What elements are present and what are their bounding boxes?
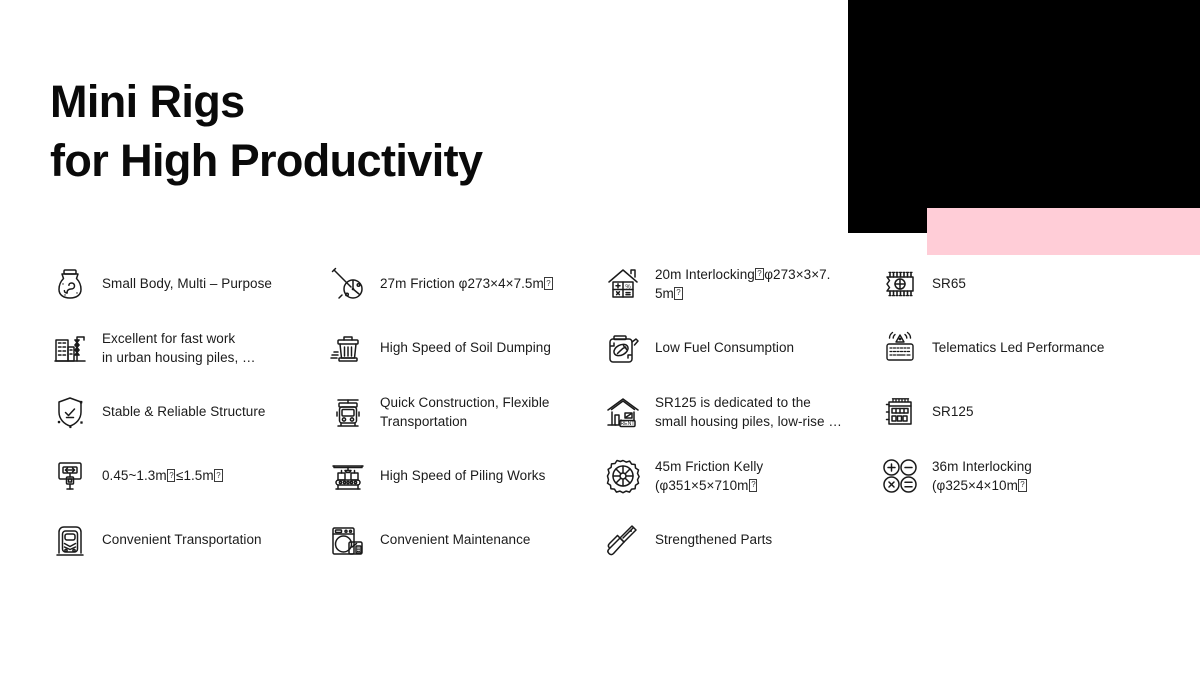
feature-item: 36m Interlocking (φ325×4×10m bbox=[880, 444, 1156, 508]
feature-grid: Small Body, Multi – Purpose 27m Friction… bbox=[50, 252, 1170, 572]
missing-glyph-box bbox=[1018, 479, 1026, 492]
decor-black-block bbox=[848, 0, 1200, 233]
feature-item: Excellent for fast work in urban housing… bbox=[50, 316, 328, 380]
missing-glyph-box bbox=[749, 479, 757, 492]
feature-item: 45m Friction Kelly (φ351×5×710m bbox=[603, 444, 880, 508]
feature-item: Quick Construction, Flexible Transportat… bbox=[328, 380, 603, 444]
feature-item: 0.45~1.3m≤1.5m bbox=[50, 444, 328, 508]
feature-label: High Speed of Soil Dumping bbox=[380, 338, 551, 357]
feature-label: Low Fuel Consumption bbox=[655, 338, 794, 357]
feature-label: Small Body, Multi – Purpose bbox=[102, 274, 272, 293]
feature-item: RENT SR125 is dedicated to the small hou… bbox=[603, 380, 880, 444]
missing-glyph-box bbox=[674, 287, 682, 300]
soil-dump-bin-icon bbox=[328, 328, 368, 368]
feature-item: Small Body, Multi – Purpose bbox=[50, 252, 328, 316]
pliers-tool-icon bbox=[603, 520, 643, 560]
feature-label: 36m Interlocking (φ325×4×10m bbox=[932, 457, 1032, 495]
page-title: Mini Rigs for High Productivity bbox=[50, 72, 482, 191]
house-rent-icon: RENT bbox=[603, 392, 643, 432]
missing-glyph-box bbox=[544, 277, 552, 290]
feature-item: % 20m Interlockingφ273×3×7. 5m bbox=[603, 252, 880, 316]
svg-text:%: % bbox=[625, 285, 631, 291]
feature-item: 27m Friction φ273×4×7.5m bbox=[328, 252, 603, 316]
feature-label: SR125 is dedicated to the small housing … bbox=[655, 393, 842, 431]
feature-item: Convenient Maintenance bbox=[328, 508, 603, 572]
feature-item: Convenient Transportation bbox=[50, 508, 328, 572]
feature-item: Low Fuel Consumption bbox=[603, 316, 880, 380]
shield-check-icon bbox=[50, 392, 90, 432]
feature-label: 27m Friction φ273×4×7.5m bbox=[380, 274, 553, 293]
building-crane-icon bbox=[50, 328, 90, 368]
feature-item: SR125 bbox=[880, 380, 1156, 444]
fuel-can-icon bbox=[603, 328, 643, 368]
measuring-gauge-icon bbox=[50, 456, 90, 496]
microchip-icon bbox=[880, 264, 920, 304]
piling-rig-icon bbox=[328, 456, 368, 496]
gear-wheel-icon bbox=[603, 456, 643, 496]
slide-root: Mini Rigs for High Productivity Small Bo… bbox=[0, 0, 1200, 675]
drill-auger-icon bbox=[328, 264, 368, 304]
tram-transport-icon bbox=[328, 392, 368, 432]
feature-item: SR65 bbox=[880, 252, 1156, 316]
feature-label: 20m Interlockingφ273×3×7. 5m bbox=[655, 265, 830, 303]
sack-muscle-icon bbox=[50, 264, 90, 304]
missing-glyph-box bbox=[755, 268, 763, 281]
decor-pink-block bbox=[927, 208, 1200, 255]
feature-item: High Speed of Piling Works bbox=[328, 444, 603, 508]
maintenance-machine-icon bbox=[328, 520, 368, 560]
feature-label: Convenient Maintenance bbox=[380, 530, 530, 549]
feature-label: 45m Friction Kelly (φ351×5×710m bbox=[655, 457, 763, 495]
telematics-keyboard-icon bbox=[880, 328, 920, 368]
feature-label: Excellent for fast work in urban housing… bbox=[102, 329, 256, 367]
feature-label: SR65 bbox=[932, 274, 966, 293]
feature-item: Telematics Led Performance bbox=[880, 316, 1156, 380]
feature-label: Stable & Reliable Structure bbox=[102, 402, 265, 421]
feature-item: High Speed of Soil Dumping bbox=[328, 316, 603, 380]
feature-item: Stable & Reliable Structure bbox=[50, 380, 328, 444]
tram-front-icon bbox=[50, 520, 90, 560]
missing-glyph-box bbox=[214, 469, 222, 482]
missing-glyph-box bbox=[167, 469, 175, 482]
feature-label: Quick Construction, Flexible Transportat… bbox=[380, 393, 549, 431]
feature-label: Strengthened Parts bbox=[655, 530, 772, 549]
feature-label: High Speed of Piling Works bbox=[380, 466, 545, 485]
svg-text:RENT: RENT bbox=[620, 421, 635, 427]
feature-label: 0.45~1.3m≤1.5m bbox=[102, 466, 223, 485]
feature-label: Convenient Transportation bbox=[102, 530, 262, 549]
four-operators-icon bbox=[880, 456, 920, 496]
feature-item: Strengthened Parts bbox=[603, 508, 880, 572]
feature-label: Telematics Led Performance bbox=[932, 338, 1104, 357]
memory-module-icon bbox=[880, 392, 920, 432]
feature-label: SR125 bbox=[932, 402, 974, 421]
house-calculator-icon: % bbox=[603, 264, 643, 304]
